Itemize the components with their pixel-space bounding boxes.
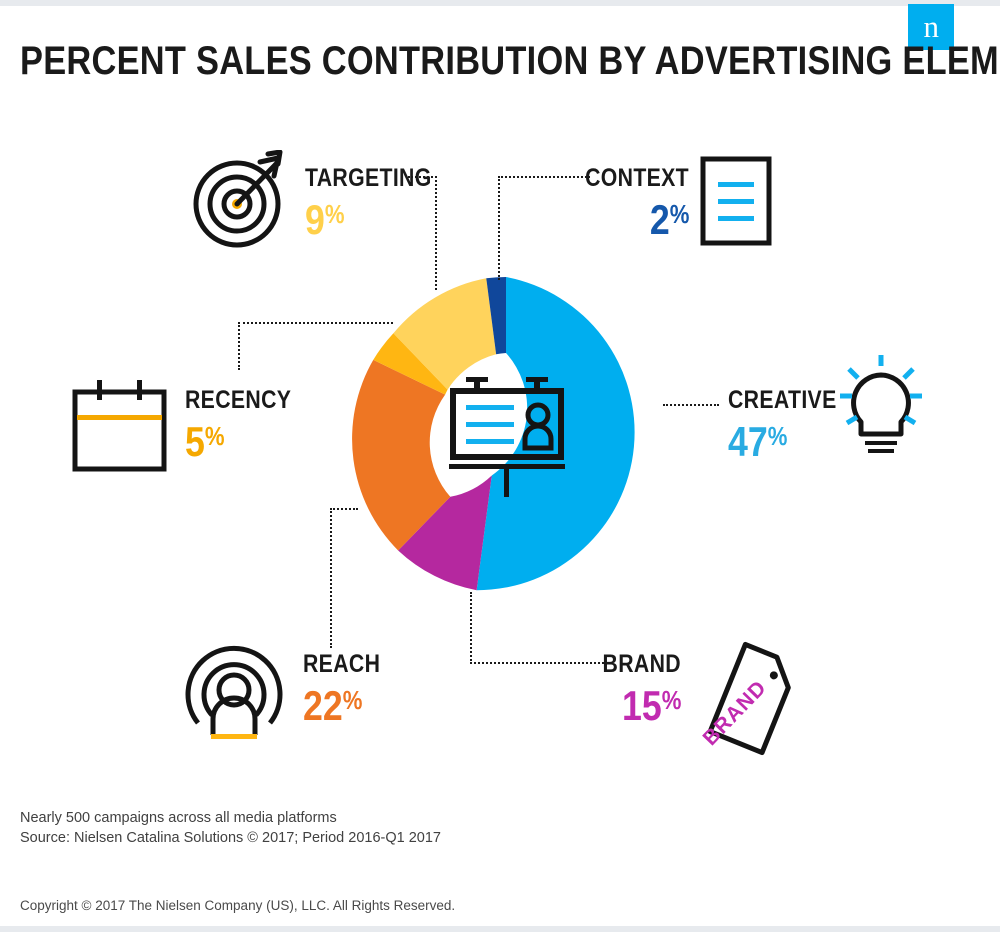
stat-recency-label: RECENCY: [185, 387, 291, 414]
price-tag-icon: BRAND: [696, 638, 804, 756]
stat-recency: RECENCY 5%: [185, 387, 310, 464]
leader-creative-horizontal: [663, 404, 719, 406]
stat-context-number: 2: [650, 196, 670, 243]
stat-recency-number: 5: [185, 418, 205, 465]
stat-context-label: CONTEXT: [527, 165, 689, 192]
stat-brand: BRAND 15%: [520, 651, 681, 728]
stat-context-value: 2%: [527, 192, 689, 242]
stat-recency-value: 5%: [185, 414, 291, 464]
stat-creative-number: 47: [728, 418, 768, 465]
stat-context-suffix: %: [670, 199, 689, 229]
calendar-icon: [72, 380, 167, 472]
stat-creative-suffix: %: [768, 421, 787, 451]
footnote-line-2: Source: Nielsen Catalina Solutions © 201…: [20, 828, 441, 848]
nielsen-logo-letter: n: [924, 11, 939, 42]
document-icon: [700, 156, 772, 246]
stat-targeting-label: TARGETING: [305, 165, 432, 192]
stat-creative-label: CREATIVE: [728, 387, 837, 414]
broadcast-person-icon: [182, 635, 286, 740]
stat-targeting-value: 9%: [305, 192, 432, 242]
bottom-edge-strip: [0, 926, 1000, 932]
stat-recency-suffix: %: [205, 421, 224, 451]
top-edge-strip: [0, 0, 1000, 6]
stat-reach-number: 22: [303, 682, 343, 729]
leader-recency-horizontal: [238, 322, 393, 324]
stat-targeting: TARGETING 9%: [305, 165, 454, 242]
infographic-page: n PERCENT SALES CONTRIBUTION BY ADVERTIS…: [0, 0, 1000, 932]
stat-creative-value: 47%: [728, 414, 837, 464]
copyright-notice: Copyright © 2017 The Nielsen Company (US…: [20, 897, 455, 915]
stat-reach: REACH 22%: [303, 651, 394, 728]
target-icon: [192, 150, 290, 250]
leader-reach-vertical: [330, 508, 332, 648]
stat-targeting-number: 9: [305, 196, 325, 243]
billboard-icon: [443, 377, 569, 497]
stat-brand-label: BRAND: [544, 651, 681, 678]
lightbulb-icon: [828, 355, 934, 465]
stat-context: CONTEXT 2%: [498, 165, 689, 242]
leader-recency-vertical: [238, 322, 240, 370]
stat-reach-value: 22%: [303, 678, 380, 728]
stat-brand-suffix: %: [662, 685, 681, 715]
stat-reach-suffix: %: [343, 685, 362, 715]
page-title: PERCENT SALES CONTRIBUTION BY ADVERTISIN…: [20, 38, 1000, 84]
stat-targeting-suffix: %: [325, 199, 344, 229]
leader-brand-vertical: [470, 592, 472, 664]
footnote-line-1: Nearly 500 campaigns across all media pl…: [20, 808, 337, 828]
leader-reach-horizontal: [330, 508, 358, 510]
stat-brand-value: 15%: [544, 678, 681, 728]
stat-brand-number: 15: [622, 682, 662, 729]
stat-reach-label: REACH: [303, 651, 380, 678]
